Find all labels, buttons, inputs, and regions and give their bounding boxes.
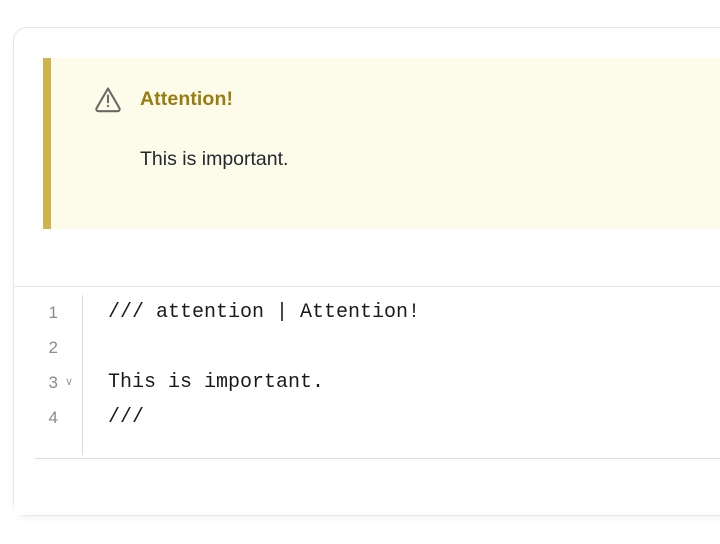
chevron-down-icon[interactable]: ∨ bbox=[62, 365, 76, 400]
code-text-area[interactable]: /// attention | Attention! This is impor… bbox=[96, 287, 720, 458]
source-editor-pane[interactable]: 1 2 3 4 ∨ /// attention | Attention! Thi… bbox=[14, 287, 720, 458]
card-footer bbox=[14, 459, 720, 515]
line-number: 4 bbox=[14, 400, 58, 435]
attention-callout: Attention! This is important. bbox=[43, 58, 720, 229]
line-number: 2 bbox=[14, 330, 58, 365]
preview-card: Attention! This is important. 1 2 3 4 ∨ … bbox=[13, 27, 720, 516]
rendered-preview-pane: Attention! This is important. bbox=[14, 28, 720, 286]
code-line[interactable]: /// attention | Attention! bbox=[108, 295, 420, 330]
callout-title: Attention! bbox=[140, 88, 233, 111]
callout-body-text: This is important. bbox=[140, 148, 288, 171]
line-number: 1 bbox=[14, 295, 58, 330]
line-number-gutter: 1 2 3 4 ∨ bbox=[14, 287, 82, 458]
code-line[interactable]: This is important. bbox=[108, 365, 324, 400]
code-line[interactable]: /// bbox=[108, 400, 144, 435]
line-number: 3 bbox=[14, 365, 58, 400]
gutter-separator bbox=[82, 295, 83, 455]
callout-title-row: Attention! bbox=[93, 84, 233, 114]
warning-triangle-icon bbox=[93, 84, 123, 114]
